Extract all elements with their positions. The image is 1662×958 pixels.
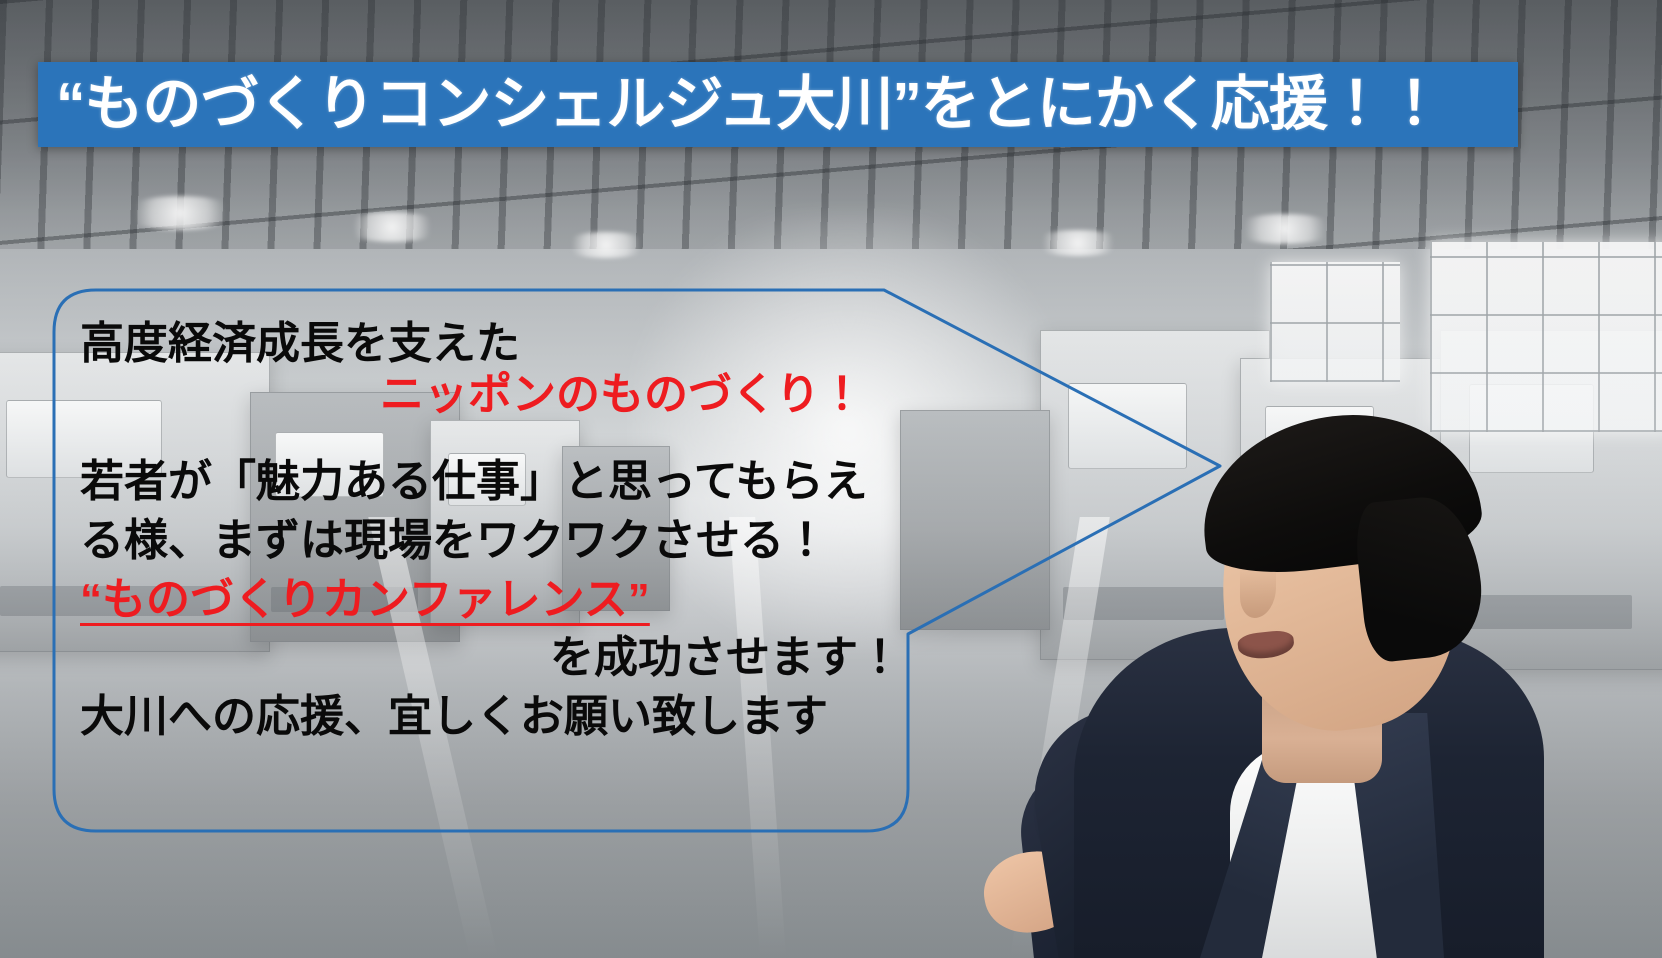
bubble-line-7: 大川への応援、宜しくお願い致します [80,695,935,740]
presentation-slide: “ものづくりコンシェルジュ大川”をとにかく応援！！ 高度経済成長を支えた ニッポ… [0,0,1662,958]
speech-bubble-text: 高度経済成長を支えた ニッポンのものづくり！ 若者が「魅力ある仕事」と思ってもら… [80,322,935,802]
bubble-line-3: 若者が「魅力ある仕事」と思ってもらえ [80,460,935,505]
bubble-line-6: を成功させます！ [80,636,935,681]
bubble-line-5: “ものづくりカンファレンス” [80,578,935,623]
title-banner: “ものづくりコンシェルジュ大川”をとにかく応援！！ [38,62,1518,147]
bubble-line-4: る様、まずは現場をワクワクさせる！ [80,519,935,564]
bubble-line-2: ニッポンのものづくり！ [80,373,935,418]
page-title: “ものづくりコンシェルジュ大川”をとにかく応援！！ [56,75,1443,134]
speech-bubble: 高度経済成長を支えた ニッポンのものづくり！ 若者が「魅力ある仕事」と思ってもら… [52,288,1232,833]
bubble-line-1: 高度経済成長を支えた [80,322,935,367]
